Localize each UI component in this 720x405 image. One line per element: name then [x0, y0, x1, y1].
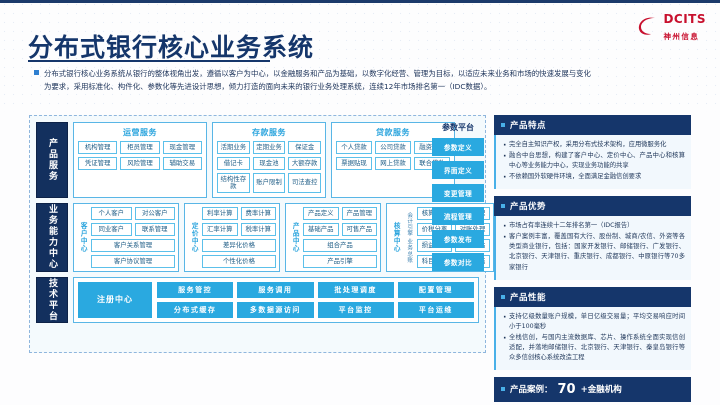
- center-name-product: 产品中心: [289, 207, 300, 268]
- case-number: 70: [558, 382, 576, 397]
- service-cell[interactable]: 辅助交易: [163, 157, 202, 170]
- panel-body: 完全自主知识产权，采用分布式技术架构，应用微服务化 融合中台思想，构建了客户中心…: [494, 135, 691, 189]
- service-cell[interactable]: 活期业务: [217, 141, 250, 154]
- intro-line-2: 为要求，采用标准化、构件化、参数化等先进设计思想，倾力打造的面向未来的银行业务处…: [44, 82, 491, 91]
- tech-cell[interactable]: 服务调用: [237, 282, 313, 298]
- service-cell[interactable]: 公司贷款: [375, 141, 411, 154]
- center-cell[interactable]: 对公客户: [135, 207, 176, 220]
- architecture-diagram: 产品服务 运营服务 机构管理 柜员管理 现金管理 凭证管理 风险管理 辅助交易 …: [29, 115, 486, 353]
- panel-product-features: 产品特点 完全自主知识产权，采用分布式技术架构，应用微服务化 融合中台思想，构建…: [494, 115, 691, 189]
- tech-cell[interactable]: 平台运维: [398, 302, 474, 318]
- square-bullet-icon: [501, 123, 505, 127]
- service-cell[interactable]: 现金管理: [163, 141, 202, 154]
- center-customer: 客户中心 个人客户 对公客户 同业客户 联系管理 客户关系管理 客户协议管理: [73, 203, 179, 272]
- panel-body: 市场占有率连续十二年排名第一（IDC报告） 客户案例丰富，覆盖国有大行、股份制、…: [494, 216, 691, 279]
- tech-cell[interactable]: 批处理调度: [318, 282, 394, 298]
- service-cell[interactable]: 保证金: [288, 141, 321, 154]
- center-cell[interactable]: 差异化价格: [202, 239, 276, 252]
- panel-header: 产品特点: [494, 115, 691, 135]
- center-name-accounting: 核算中心: [390, 207, 401, 268]
- panel-title: 产品性能: [510, 291, 546, 303]
- tech-cell[interactable]: 分布式缓存: [157, 302, 233, 318]
- param-button[interactable]: 界面定义: [432, 161, 484, 179]
- slide-page: DCITS 神州信息 分布式银行核心业务系统 分布式银行核心业务系统从银行的整体…: [0, 0, 720, 405]
- tech-cell[interactable]: 服务管控: [157, 282, 233, 298]
- param-button[interactable]: 流程管理: [432, 207, 484, 225]
- case-label: 产品案例：: [510, 383, 553, 395]
- center-name-pricing: 定价中心: [188, 207, 199, 268]
- panel-item: 客户案例丰富，覆盖国有大行、股份制、城商/农信、外资等各类型商业银行，包括：国家…: [502, 232, 685, 272]
- center-cell[interactable]: 个性化价格: [202, 255, 276, 268]
- panel-item: 市场占有率连续十二年排名第一（IDC报告）: [502, 221, 685, 231]
- service-cell[interactable]: 机构管理: [78, 141, 117, 154]
- center-cell[interactable]: 联系管理: [135, 223, 176, 236]
- param-button[interactable]: 参数定义: [432, 138, 484, 156]
- service-cell[interactable]: 票据贴现: [336, 157, 372, 170]
- tech-cell[interactable]: 多数据源访问: [237, 302, 313, 318]
- center-cell[interactable]: 组合产品: [303, 239, 377, 252]
- band-technical-platform: 技术平台 注册中心 服务管控 服务调用 批处理调度 配置管理 分布式缓存 多数据…: [36, 277, 479, 323]
- parameter-platform: 参数平台 参数定义 界面定义 变更管理 流程管理 参数发布 参数对比: [432, 122, 484, 276]
- panel-item: 融合中台思想，构建了客户中心、定价中心、产品中心和核算中心等业务能力中心，实现业…: [502, 151, 685, 171]
- service-cell[interactable]: 结构性存款: [217, 173, 250, 192]
- center-cell[interactable]: 可售产品: [342, 223, 378, 236]
- top-accent-bar: [0, 0, 720, 3]
- parameter-platform-title: 参数平台: [432, 122, 484, 133]
- center-name-customer: 客户中心: [77, 207, 88, 268]
- center-cell[interactable]: 个人客户: [91, 207, 132, 220]
- brand-logo: DCITS 神州信息: [637, 10, 706, 42]
- param-button[interactable]: 变更管理: [432, 184, 484, 202]
- service-cell[interactable]: 风险管理: [120, 157, 159, 170]
- panel-body: 支持亿级数量账户规模，单日亿级交易量；平均交易响应时间小于100毫秒 全栈信创，…: [494, 307, 691, 370]
- service-cell[interactable]: 大额存款: [288, 157, 321, 170]
- group-deposit-services: 存款服务 活期业务 定期业务 保证金 借记卡 现金池 大额存款 结构性存款 账户…: [212, 122, 326, 198]
- square-bullet-icon: [501, 387, 505, 391]
- center-cell[interactable]: 汇率计算: [202, 223, 238, 236]
- panel-title: 产品优势: [510, 200, 546, 212]
- panel-header: 产品性能: [494, 287, 691, 307]
- panel-item: 全栈信创，与国内主流数据库、芯片、操作系统全面实现信创适配，并落地邮储银行、北京…: [502, 333, 685, 363]
- service-cell[interactable]: 账户限制: [253, 173, 286, 192]
- center-cell[interactable]: 费率计算: [241, 207, 277, 220]
- service-cell[interactable]: 司法查控: [288, 173, 321, 192]
- panel-item: 不依赖国外软硬件环境，全面满足金融信创要求: [502, 172, 685, 182]
- title-underline: [28, 60, 270, 62]
- tech-register-center[interactable]: 注册中心: [78, 282, 152, 318]
- panel-product-case: 产品案例： 70 +金融机构: [494, 377, 691, 402]
- panel-title: 产品特点: [510, 119, 546, 131]
- param-button[interactable]: 参数对比: [432, 253, 484, 271]
- service-cell[interactable]: 现金池: [253, 157, 286, 170]
- center-cell[interactable]: 客户协议管理: [91, 255, 175, 268]
- center-cell[interactable]: 同业客户: [91, 223, 132, 236]
- service-cell[interactable]: 定期业务: [253, 141, 286, 154]
- info-panels: 产品特点 完全自主知识产权，采用分布式技术架构，应用微服务化 融合中台思想，构建…: [494, 115, 691, 402]
- square-bullet-icon: [501, 204, 505, 208]
- center-sub-accounting: 会计引擎 业务总账: [404, 207, 414, 268]
- center-cell[interactable]: 基础产品: [303, 223, 339, 236]
- center-cell[interactable]: 客户关系管理: [91, 239, 175, 252]
- center-cell[interactable]: 税率计算: [241, 223, 277, 236]
- center-cell[interactable]: 利率计算: [202, 207, 238, 220]
- service-cell[interactable]: 个人贷款: [336, 141, 372, 154]
- panel-header: 产品优势: [494, 196, 691, 216]
- service-cell[interactable]: 柜员管理: [120, 141, 159, 154]
- intro-paragraph: 分布式银行核心业务系统从银行的整体视角出发，遵循以客户为中心，以金融服务和产品为…: [34, 68, 686, 94]
- panel-product-advantages: 产品优势 市场占有率连续十二年排名第一（IDC报告） 客户案例丰富，覆盖国有大行…: [494, 196, 691, 279]
- logo-cn-text: 神州信息: [663, 32, 699, 41]
- panel-item: 支持亿级数量账户规模，单日亿级交易量；平均交易响应时间小于100毫秒: [502, 312, 685, 332]
- center-pricing: 定价中心 利率计算 费率计算 汇率计算 税率计算 差异化价格 个性化价格: [184, 203, 280, 272]
- intro-line-1: 分布式银行核心业务系统从银行的整体视角出发，遵循以客户为中心，以金融服务和产品为…: [44, 69, 591, 78]
- service-cell[interactable]: 凭证管理: [78, 157, 117, 170]
- group-title-operation: 运营服务: [78, 127, 202, 138]
- band-label-technical: 技术平台: [36, 277, 68, 323]
- panel-product-performance: 产品性能 支持亿级数量账户规模，单日亿级交易量；平均交易响应时间小于100毫秒 …: [494, 287, 691, 370]
- service-cell[interactable]: 借记卡: [217, 157, 250, 170]
- intro-bullet-icon: [34, 70, 39, 75]
- page-title: 分布式银行核心业务系统: [28, 28, 314, 64]
- tech-cell[interactable]: 平台监控: [318, 302, 394, 318]
- param-button[interactable]: 参数发布: [432, 230, 484, 248]
- case-suffix: +金融机构: [581, 383, 622, 395]
- band-label-product-services: 产品服务: [36, 122, 68, 198]
- tech-cell[interactable]: 配置管理: [398, 282, 474, 298]
- band-label-capability: 业务能力中心: [36, 203, 68, 272]
- center-cell[interactable]: 产品管理: [342, 207, 378, 220]
- swirl-logo-icon: [637, 15, 659, 37]
- logo-en-text: DCITS: [663, 12, 706, 26]
- square-bullet-icon: [501, 295, 505, 299]
- band-capability-centers: 业务能力中心 客户中心 个人客户 对公客户 同业客户 联系管理 客户关系管理 客…: [36, 203, 479, 272]
- band-product-services: 产品服务 运营服务 机构管理 柜员管理 现金管理 凭证管理 风险管理 辅助交易 …: [36, 122, 479, 198]
- center-cell[interactable]: 产品定义: [303, 207, 339, 220]
- center-product: 产品中心 产品定义 产品管理 基础产品 可售产品 组合产品 产品引擎: [285, 203, 381, 272]
- group-operation-services: 运营服务 机构管理 柜员管理 现金管理 凭证管理 风险管理 辅助交易: [73, 122, 207, 198]
- service-cell[interactable]: 网上贷款: [375, 157, 411, 170]
- panel-item: 完全自主知识产权，采用分布式技术架构，应用微服务化: [502, 140, 685, 150]
- group-title-deposit: 存款服务: [217, 127, 321, 138]
- center-cell[interactable]: 产品引擎: [303, 255, 377, 268]
